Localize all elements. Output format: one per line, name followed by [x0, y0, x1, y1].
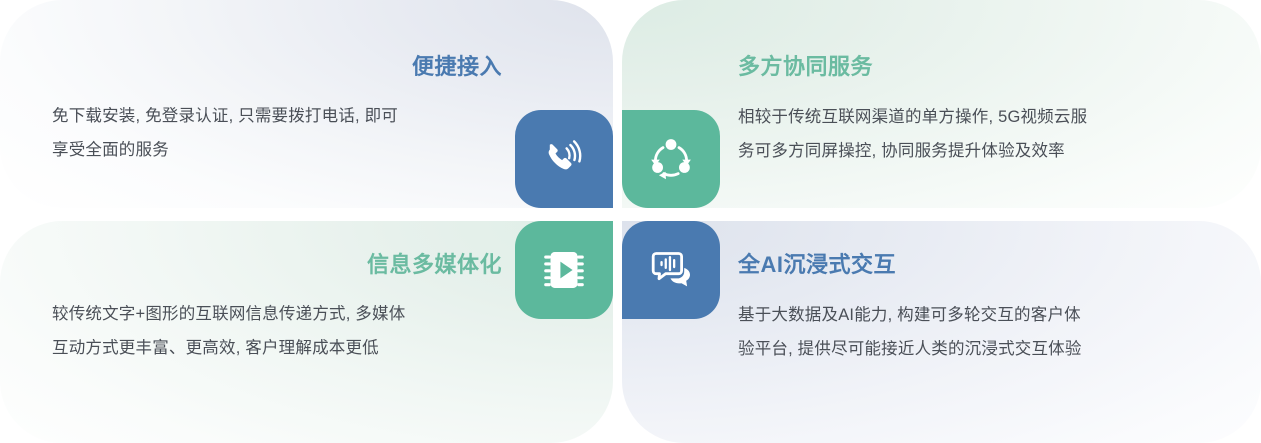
feature-description-line: 基于大数据及AI能力, 构建可多轮交互的客户体	[738, 299, 1208, 333]
feature-text-information-multimedia: 信息多媒体化 较传统文字+图形的互联网信息传递方式, 多媒体 互动方式更丰富、更…	[52, 254, 502, 366]
feature-description-line: 互动方式更丰富、更高效, 客户理解成本更低	[52, 332, 502, 366]
feature-description-line: 务可多方同屏操控, 协同服务提升体验及效率	[738, 135, 1208, 169]
feature-grid: 便捷接入 免下载安装, 免登录认证, 只需要拨打电话, 即可 享受全面的服务 多…	[0, 0, 1261, 443]
feature-title-full-ai-immersive: 全AI沉浸式交互	[738, 252, 896, 277]
feature-description-multiparty-collaboration: 相较于传统互联网渠道的单方操作, 5G视频云服 务可多方同屏操控, 协同服务提升…	[738, 101, 1208, 169]
feature-description-line: 免下载安装, 免登录认证, 只需要拨打电话, 即可	[52, 100, 502, 134]
feature-title-multiparty-collaboration: 多方协同服务	[738, 54, 873, 79]
feature-description-line: 较传统文字+图形的互联网信息传递方式, 多媒体	[52, 298, 502, 332]
feature-text-full-ai-immersive: 全AI沉浸式交互 基于大数据及AI能力, 构建可多轮交互的客户体 验平台, 提供…	[738, 254, 1208, 367]
feature-description-information-multimedia: 较传统文字+图形的互联网信息传递方式, 多媒体 互动方式更丰富、更高效, 客户理…	[52, 298, 502, 366]
feature-description-convenient-access: 免下载安装, 免登录认证, 只需要拨打电话, 即可 享受全面的服务	[52, 100, 502, 168]
feature-icon-tile-full-ai-immersive	[622, 221, 720, 319]
collaboration-cycle-icon	[643, 131, 699, 187]
feature-description-line: 享受全面的服务	[52, 134, 502, 168]
feature-description-line: 相较于传统互联网渠道的单方操作, 5G视频云服	[738, 101, 1208, 135]
voice-chat-icon	[643, 242, 699, 298]
feature-icon-tile-multiparty-collaboration	[622, 110, 720, 208]
feature-icon-tile-information-multimedia	[515, 221, 613, 319]
feature-description-full-ai-immersive: 基于大数据及AI能力, 构建可多轮交互的客户体 验平台, 提供尽可能接近人类的沉…	[738, 299, 1208, 367]
feature-description-line: 验平台, 提供尽可能接近人类的沉浸式交互体验	[738, 333, 1208, 367]
feature-text-convenient-access: 便捷接入 免下载安装, 免登录认证, 只需要拨打电话, 即可 享受全面的服务	[52, 56, 502, 168]
feature-icon-tile-convenient-access	[515, 110, 613, 208]
feature-title-convenient-access: 便捷接入	[52, 56, 502, 78]
feature-text-multiparty-collaboration: 多方协同服务 相较于传统互联网渠道的单方操作, 5G视频云服 务可多方同屏操控,…	[738, 56, 1208, 169]
video-film-icon	[537, 243, 591, 297]
phone-call-icon	[536, 131, 592, 187]
feature-title-information-multimedia: 信息多媒体化	[52, 254, 502, 276]
